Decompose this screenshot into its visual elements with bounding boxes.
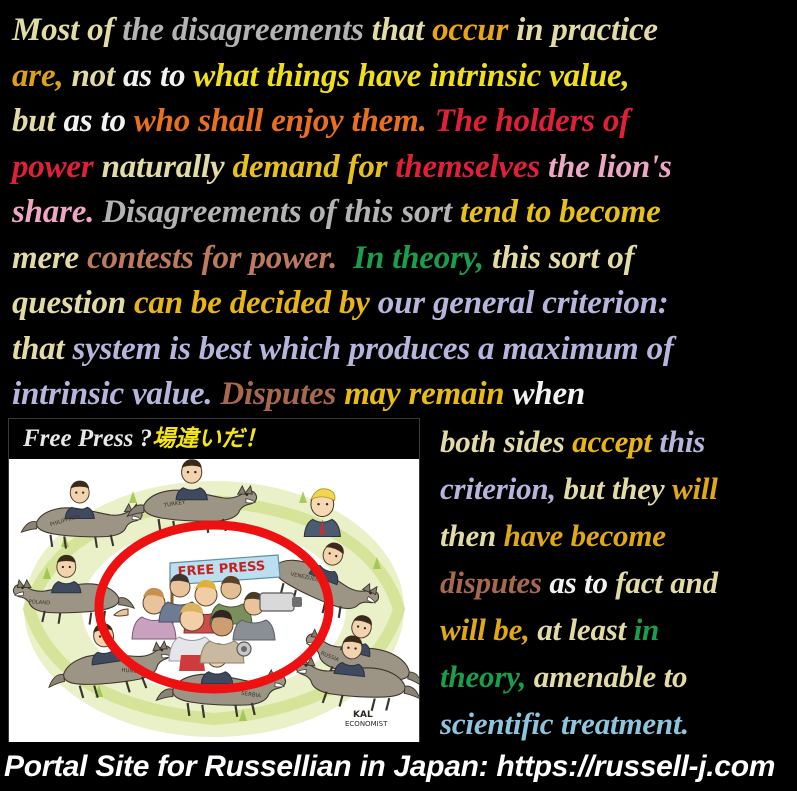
cartoon-caption-en: Free Press ?	[23, 425, 152, 452]
quote-segment: intrinsic value.	[12, 376, 220, 412]
cartoon-panel: Free Press ?場違いだ！	[8, 418, 420, 743]
quote-line-10: both sides accept this	[440, 418, 785, 465]
quote-segment: theory,	[440, 659, 534, 694]
quote-segment: share.	[12, 194, 102, 230]
quote-line-6: mere contests for power. In theory, this…	[12, 236, 785, 282]
quote-segment: system is best which produces a maximum …	[72, 331, 673, 367]
quote-segment: will	[672, 471, 718, 506]
quote-segment: as to	[63, 103, 133, 139]
quote-segment: our general criterion:	[378, 285, 669, 321]
quote-segment: scientific treatment.	[440, 706, 689, 741]
quote-line-5: share. Disagreements of this sort tend t…	[12, 190, 785, 236]
quote-segment: accept	[572, 424, 659, 459]
quote-segment: criterion,	[440, 471, 564, 506]
quote-segment: may remain	[344, 376, 512, 412]
quote-segment: naturally	[102, 149, 233, 185]
quote-line-2: are, not as to what things have intrinsi…	[12, 54, 785, 100]
quote-segment: amenable to	[534, 659, 688, 694]
quote-segment: In theory,	[345, 240, 492, 276]
quote-segment: contests for power.	[87, 240, 345, 276]
quote-segment: in	[634, 612, 659, 647]
quote-segment: the lion's	[548, 149, 672, 185]
quote-segment: will be,	[440, 612, 537, 647]
quote-line-14: will be, at least in	[440, 606, 785, 653]
quote-segment: in practice	[516, 12, 658, 48]
quote-line-3: but as to who shall enjoy them. The hold…	[12, 99, 785, 145]
quote-segment: occur	[432, 12, 516, 48]
quote-segment: at least	[537, 612, 633, 647]
quote-line-4: power naturally demand for themselves th…	[12, 145, 785, 191]
quote-segment: tend to become	[460, 194, 661, 230]
quote-segment: but they	[564, 471, 672, 506]
bottom-banner: Portal Site for Russellian in Japan: htt…	[0, 742, 797, 791]
quote-segment: fact and	[615, 565, 718, 600]
quote-segment: this sort of	[492, 240, 634, 276]
screenshot-root: Most of the disagreements that occur in …	[0, 0, 797, 791]
quote-segment: when	[513, 376, 586, 412]
quote-segment: not	[72, 58, 123, 94]
quote-segment: have become	[504, 518, 666, 553]
quote-line-9: intrinsic value. Disputes may remain whe…	[12, 372, 785, 418]
quote-segment: what things have intrinsic value,	[193, 58, 629, 94]
quote-line-8: that system is best which produces a max…	[12, 327, 785, 373]
quote-segment: can be decided by	[134, 285, 378, 321]
quote-line-11: criterion, but they will	[440, 465, 785, 512]
quote-line-12: then have become	[440, 512, 785, 559]
quote-segment: power	[12, 149, 102, 185]
cartoon-caption: Free Press ?場違いだ！	[9, 419, 420, 459]
quote-segment: question	[12, 285, 134, 321]
quote-line-13: disputes as to fact and	[440, 559, 785, 606]
quote-line-16: scientific treatment.	[440, 700, 785, 747]
quote-segment: The holders of	[435, 103, 630, 139]
quote-segment: who shall enjoy them.	[134, 103, 435, 139]
quote-segment: that	[372, 12, 432, 48]
quote-segment: themselves	[395, 149, 548, 185]
quote-segment: are,	[12, 58, 72, 94]
quote-segment: both sides	[440, 424, 572, 459]
quote-segment: this	[659, 424, 705, 459]
quote-line-15: theory, amenable to	[440, 653, 785, 700]
quote-line-1: Most of the disagreements that occur in …	[12, 8, 785, 54]
svg-text:KAL: KAL	[353, 710, 373, 720]
quote-segment: the disagreements	[122, 12, 371, 48]
quote-line-7: question can be decided by our general c…	[12, 281, 785, 327]
quote-segment: that	[12, 331, 72, 367]
quote-segment: disputes	[440, 565, 549, 600]
cartoon-illustration: PHILIPPINES TURKEY	[9, 459, 419, 742]
portal-site-link[interactable]: Portal Site for Russellian in Japan: htt…	[0, 750, 775, 784]
quote-segment: then	[440, 518, 504, 553]
quote-segment: as to	[549, 565, 615, 600]
cartoon-caption-jp: 場違いだ！	[152, 426, 267, 452]
quote-segment: demand for	[233, 149, 396, 185]
quote-segment: mere	[12, 240, 87, 276]
quote-segment: but	[12, 103, 63, 139]
quote-segment: as to	[123, 58, 193, 94]
quote-segment: Disputes	[220, 376, 344, 412]
svg-text:ECONOMIST: ECONOMIST	[345, 720, 388, 728]
quote-segment: Most of	[12, 12, 122, 48]
quote-segment: Disagreements of this sort	[102, 194, 460, 230]
